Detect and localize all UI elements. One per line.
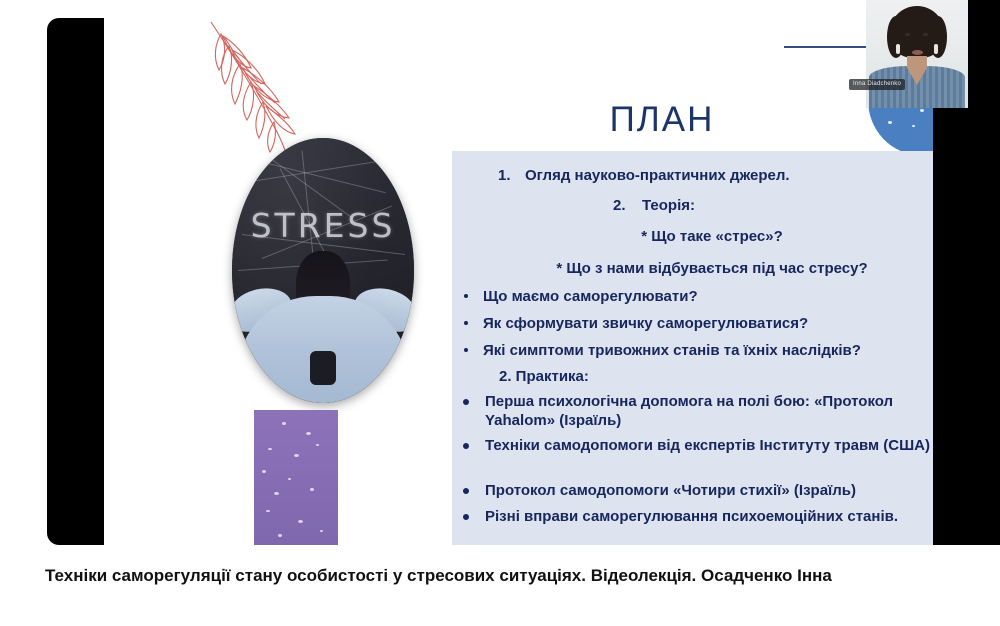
person-silhouette: [232, 253, 414, 403]
section-two-label: 2. Практика:: [499, 367, 589, 386]
small-bullet-1: Що маємо саморегулювати?: [483, 287, 698, 306]
page-root: STRESS: [0, 0, 1000, 626]
large-bullet-1: Перша психологічна допомога на полі бою:…: [485, 392, 933, 430]
webcam-video-thumbnail[interactable]: [866, 0, 968, 108]
eye-right: [923, 33, 928, 36]
numbered-item-1-number: 1.: [498, 166, 511, 185]
purple-decoration: [254, 410, 338, 545]
presentation-slide: STRESS: [104, 18, 933, 545]
participant-name-badge: Inna Diadchenko: [849, 79, 905, 90]
starred-item-1: * Що таке «стрес»?: [452, 227, 933, 246]
large-bullet-3: Протокол самодопомоги «Чотири стихії» (І…: [485, 481, 856, 500]
chalk-text: STRESS: [232, 206, 414, 245]
shirt-collar: [906, 66, 928, 85]
slide-title: ПЛАН: [452, 102, 872, 137]
starred-item-2: * Що з нами відбувається під час стресу?: [452, 259, 933, 278]
video-letterbox-far-right: [968, 0, 1000, 545]
large-bullet-marker: [463, 443, 469, 449]
small-bullet-2: Як сформувати звичку саморегулюватися?: [483, 314, 808, 333]
slide-content-panel: 1. Огляд науково-практичних джерел. 2. Т…: [452, 151, 933, 545]
small-bullet-3: Які симптоми тривожних станів та їхніх н…: [483, 341, 861, 360]
video-player[interactable]: STRESS: [47, 18, 968, 545]
numbered-item-2-text: Теорія:: [642, 196, 695, 215]
small-bullet-marker: [464, 321, 468, 325]
large-bullet-marker: [463, 488, 469, 494]
large-bullet-4: Різні вправи саморегулювання психоемоцій…: [485, 507, 898, 526]
numbered-item-1-text: Огляд науково-практичних джерел.: [525, 166, 790, 185]
large-bullet-marker: [463, 399, 469, 405]
large-bullet-2: Техніки самодопомоги від експертів Інсти…: [485, 436, 933, 455]
small-bullet-marker: [464, 294, 468, 298]
video-caption: Техніки саморегуляції стану особистості …: [45, 562, 975, 590]
mouth: [912, 50, 923, 55]
earring-left: [896, 44, 900, 54]
stress-photo: STRESS: [232, 138, 414, 403]
small-bullet-marker: [464, 348, 468, 352]
large-bullet-marker: [463, 514, 469, 520]
numbered-item-2-number: 2.: [613, 196, 626, 215]
earring-right: [934, 44, 938, 54]
eye-left: [905, 33, 910, 36]
